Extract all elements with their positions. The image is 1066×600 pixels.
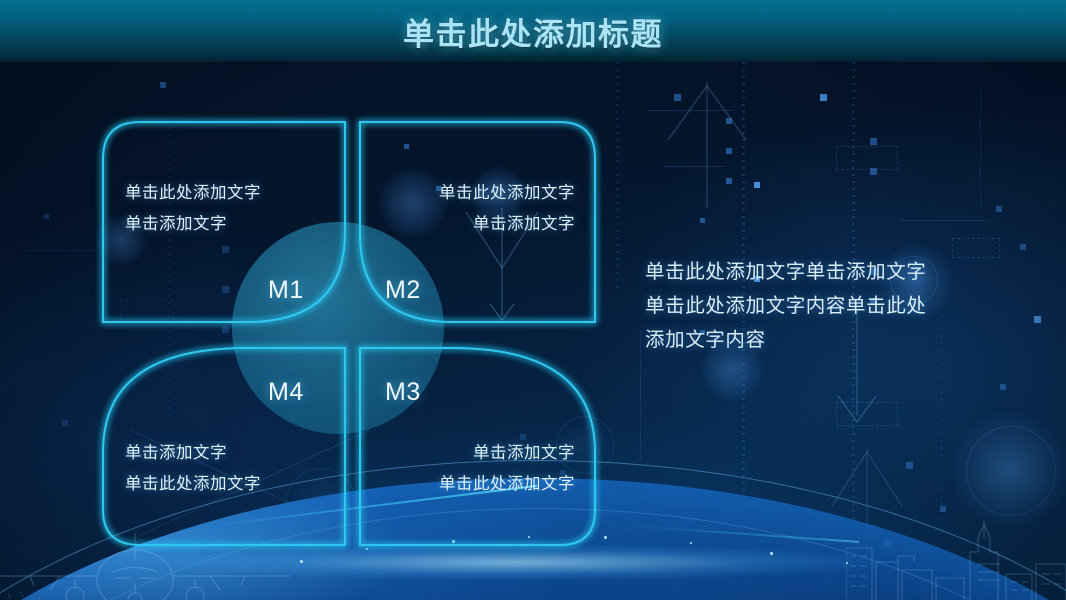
quadrant-line: 单击此处添加文字 [335, 469, 575, 500]
description-line: 添加文字内容 [645, 323, 1005, 357]
node-label-m3[interactable]: M3 [385, 378, 421, 407]
quadrant-line: 单击添加文字 [335, 438, 575, 469]
slide-canvas: M1 M2 M3 M4 单击此处添加文字 单击添加文字 单击此处添加文字 单击添… [0, 0, 1066, 600]
node-label-m1[interactable]: M1 [268, 276, 304, 305]
page-title[interactable]: 单击此处添加标题 [403, 9, 663, 54]
description-line: 单击此处添加文字单击添加文字 [645, 255, 1005, 289]
quadrant-line: 单击添加文字 [335, 209, 575, 240]
description-line: 单击此处添加文字内容单击此处 [645, 289, 1005, 323]
node-label-m4[interactable]: M4 [268, 378, 304, 407]
node-label-m2[interactable]: M2 [385, 276, 421, 305]
description-paragraph[interactable]: 单击此处添加文字单击添加文字 单击此处添加文字内容单击此处 添加文字内容 [645, 255, 1005, 357]
quadrant-text-bottom-right[interactable]: 单击添加文字 单击此处添加文字 [335, 438, 575, 500]
slide-header: 单击此处添加标题 [0, 0, 1066, 62]
quadrant-line: 单击此处添加文字 [335, 178, 575, 209]
quadrant-text-top-right[interactable]: 单击此处添加文字 单击添加文字 [335, 178, 575, 240]
